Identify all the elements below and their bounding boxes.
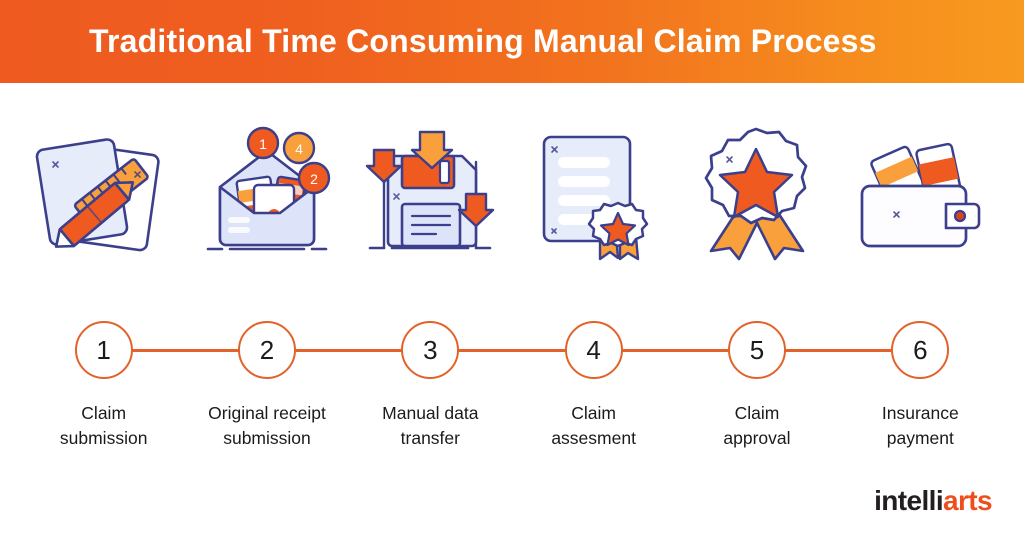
step-label-6-line1: Insurance (845, 401, 996, 426)
step-label-3: Manual data transfer (349, 401, 512, 452)
step-label-1-line2: submission (28, 426, 179, 451)
step-labels-row: Claim submission Original receipt submis… (22, 401, 1002, 452)
intelliarts-logo: intelliarts (874, 487, 992, 515)
step-label-3-line1: Manual data (355, 401, 506, 426)
step-label-5-line2: approval (681, 426, 832, 451)
step-number-4[interactable]: 4 (565, 321, 623, 379)
step-label-4-line1: Claim (518, 401, 669, 426)
process-diagram: 1 4 2 (0, 83, 1024, 541)
page-title: Traditional Time Consuming Manual Claim … (89, 23, 877, 60)
step-label-6-line2: payment (845, 426, 996, 451)
step-label-4: Claim assesment (512, 401, 675, 452)
step-number-1[interactable]: 1 (75, 321, 133, 379)
step-number-cell-4: 4 (512, 319, 675, 381)
step-label-1: Claim submission (22, 401, 185, 452)
floppy-disk-download-arrows-icon (358, 128, 503, 258)
step-label-2-line2: submission (191, 426, 342, 451)
step-number-cell-3: 3 (349, 319, 512, 381)
step-label-4-line2: assesment (518, 426, 669, 451)
step-label-5-line1: Claim (681, 401, 832, 426)
documents-ruler-pencil-icon (29, 128, 179, 258)
logo-text-part2: arts (943, 485, 992, 516)
step-number-2[interactable]: 2 (238, 321, 296, 379)
step-3-icon-box (349, 83, 512, 298)
svg-text:2: 2 (310, 171, 318, 187)
step-label-1-line1: Claim (28, 401, 179, 426)
wallet-cards-icon (850, 130, 990, 255)
logo-text-part1: intelli (874, 485, 943, 516)
step-label-6: Insurance payment (839, 401, 1002, 452)
step-label-5: Claim approval (675, 401, 838, 452)
step-6-icon-box (839, 83, 1002, 298)
step-1-icon-box (22, 83, 185, 298)
step-number-5[interactable]: 5 (728, 321, 786, 379)
step-number-cell-6: 6 (839, 319, 1002, 381)
step-label-3-line2: transfer (355, 426, 506, 451)
step-numbers-row: 1 2 3 4 5 6 (22, 319, 1002, 381)
step-label-2-line1: Original receipt (191, 401, 342, 426)
step-number-cell-1: 1 (22, 319, 185, 381)
step-number-6[interactable]: 6 (891, 321, 949, 379)
step-number-3[interactable]: 3 (401, 321, 459, 379)
svg-text:4: 4 (295, 141, 303, 157)
step-4-icon-box (512, 83, 675, 298)
step-label-2: Original receipt submission (185, 401, 348, 452)
step-number-cell-5: 5 (675, 319, 838, 381)
envelope-receipts-coins-icon: 1 4 2 (192, 125, 342, 260)
svg-text:1: 1 (259, 136, 267, 152)
certificate-award-seal-icon (524, 125, 664, 260)
award-rosette-star-icon (689, 125, 824, 260)
step-5-icon-box (675, 83, 838, 298)
header-bar: Traditional Time Consuming Manual Claim … (0, 0, 1024, 83)
step-number-cell-2: 2 (185, 319, 348, 381)
step-2-icon-box: 1 4 2 (185, 83, 348, 298)
